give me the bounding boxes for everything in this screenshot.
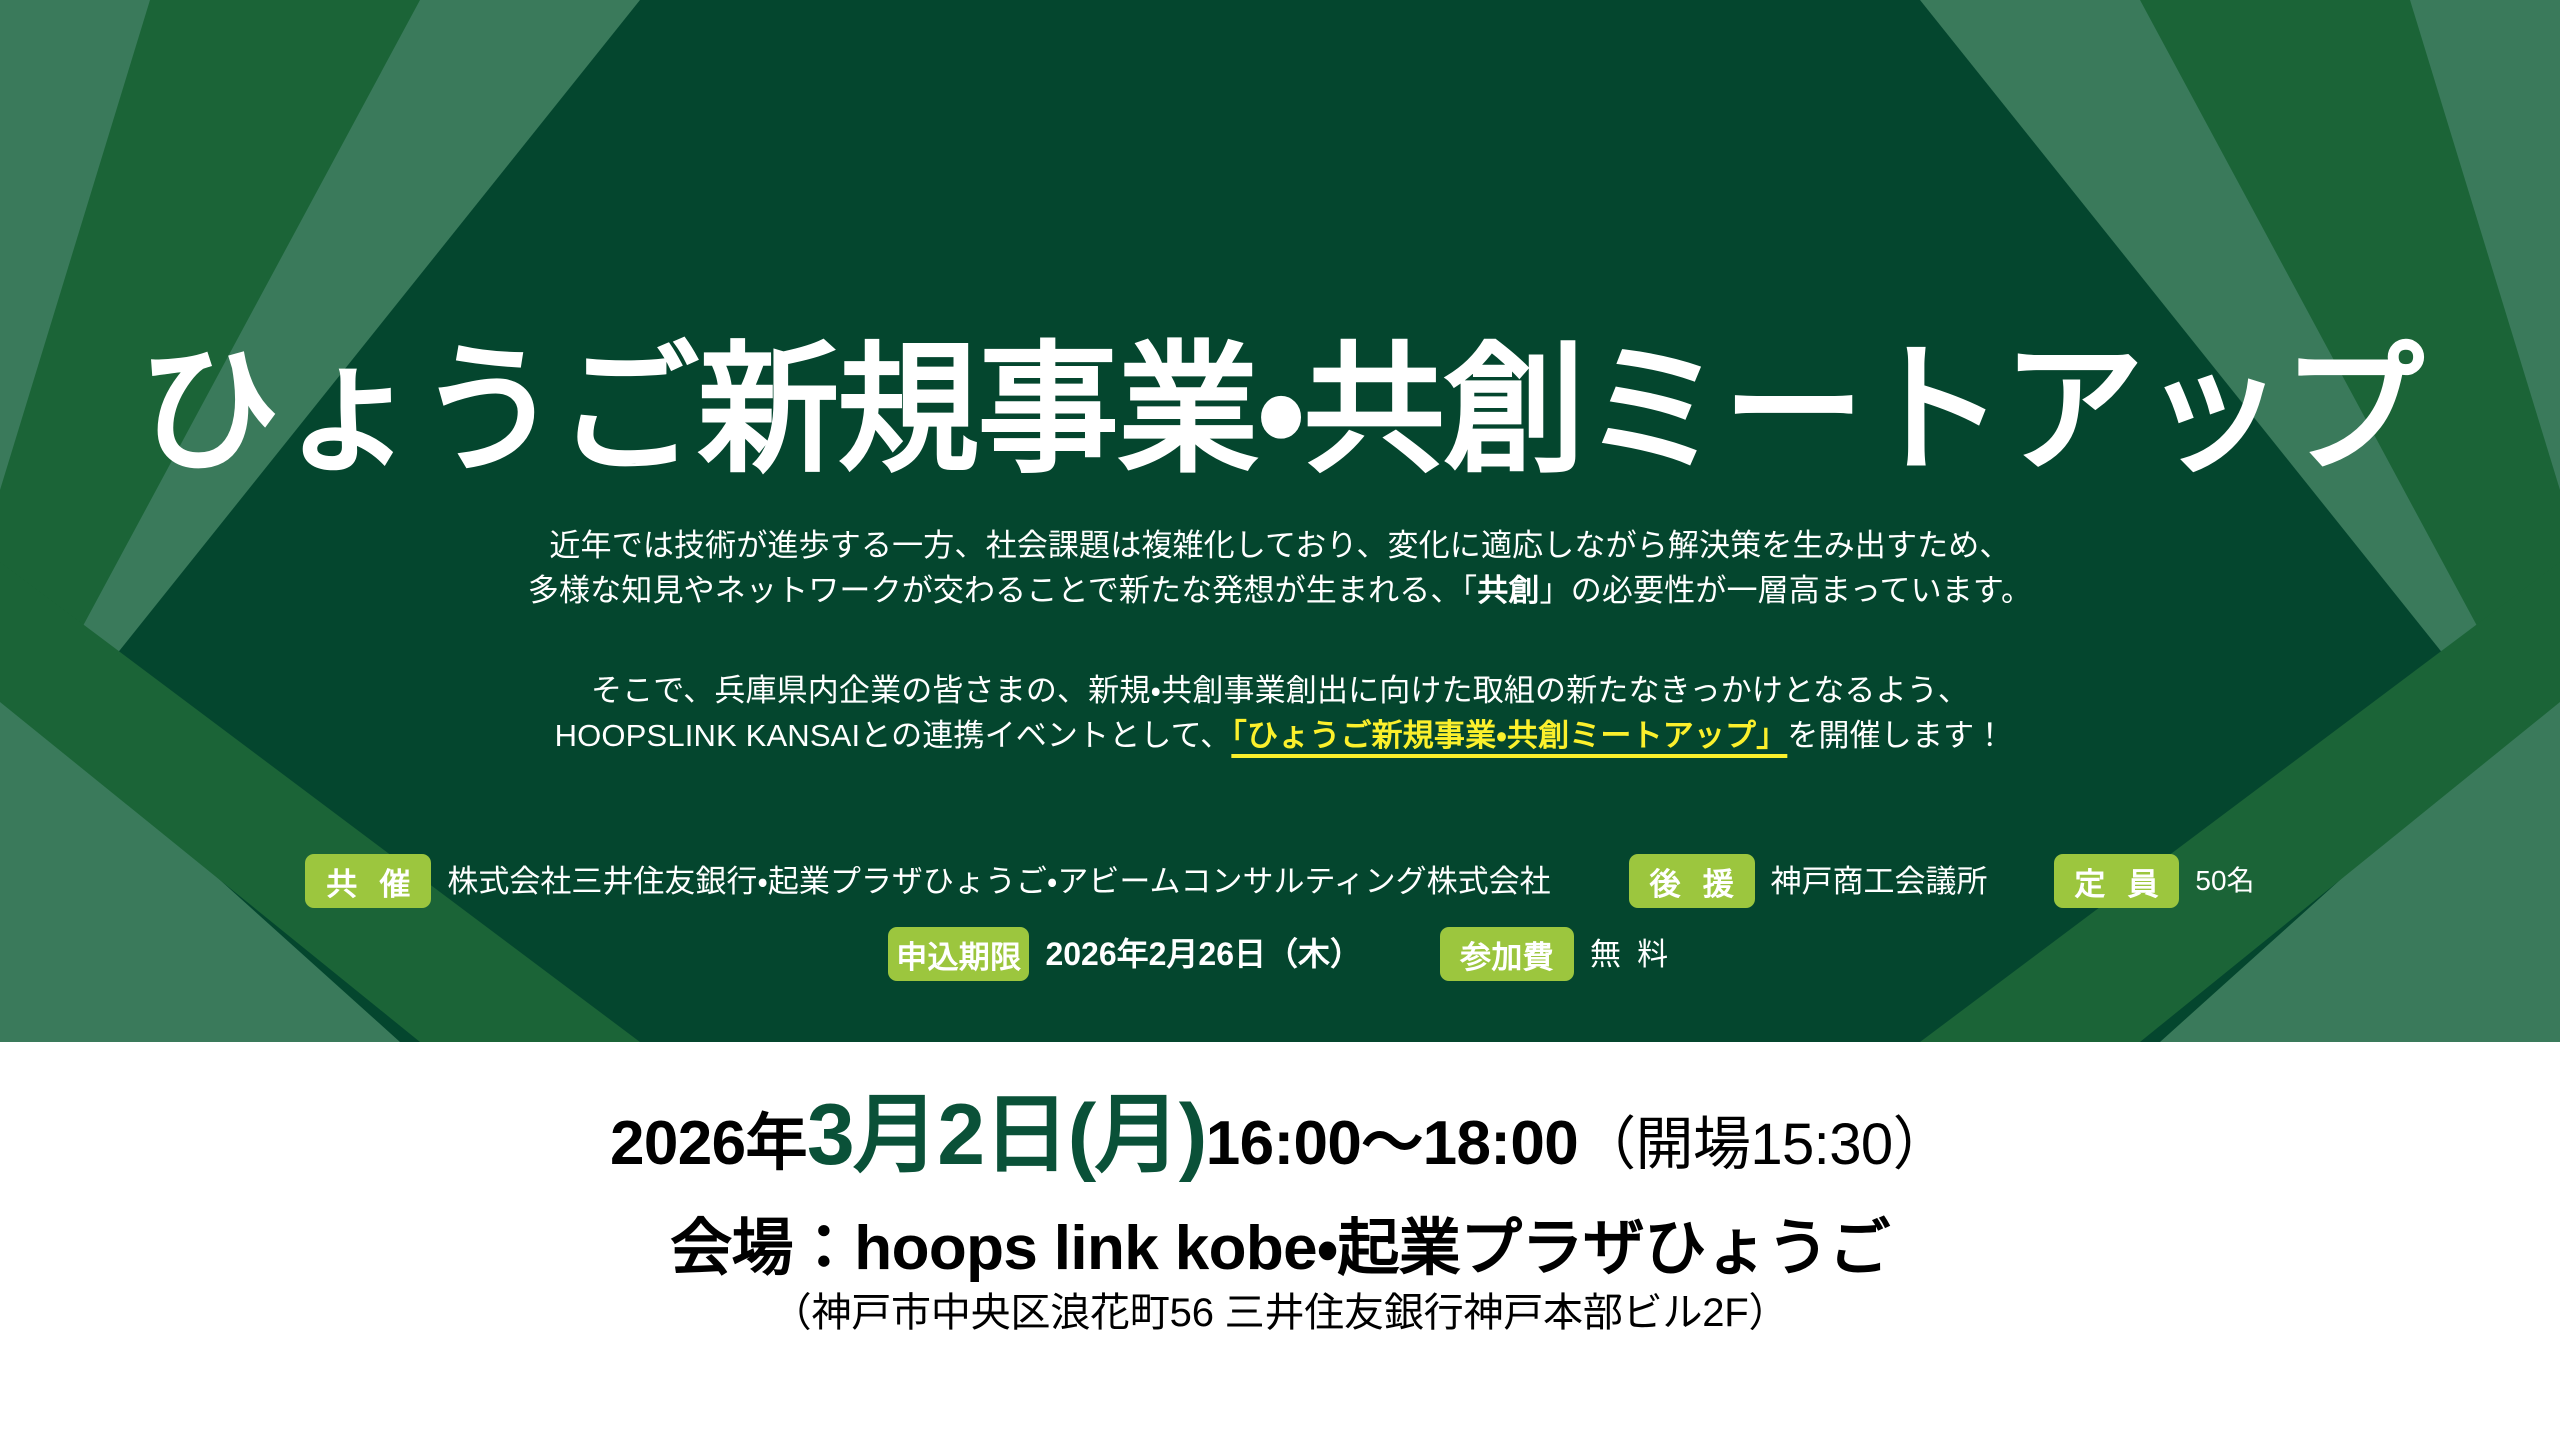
lead-paragraph-1: 近年では技術が進歩する一方、社会課題は複雑化しており、変化に適応しながら解決策を… (0, 524, 2560, 614)
badge-value-support: 神戸商工会議所 (1771, 866, 1988, 897)
lead-p2-line2-suffix: を開催します！ (1787, 718, 2005, 753)
badge-value-deadline: 2026年2月26日（木） (1045, 938, 1362, 970)
badge-value-cohost: 株式会社三井住友銀行・起業プラザひょうご・アビームコンサルティング株式会社 (447, 866, 1550, 897)
lead-p2-highlight: 「ひょうご新規事業・共創ミートアップ」 (1231, 718, 1787, 753)
badge-label-cohost: 共 催 (305, 854, 431, 908)
badge-row-secondary: 申込期限 2026年2月26日（木） 参加費 無 料 (0, 927, 2560, 981)
lead-description: 近年では技術が進歩する一方、社会課題は複雑化しており、変化に適応しながら解決策を… (0, 524, 2560, 759)
badge-value-capacity: 50名 (2195, 867, 2254, 895)
event-datetime: 2026年3月2日(月)16:00〜18:00（開場15:30） (0, 1092, 2560, 1178)
badge-row-primary: 共 催 株式会社三井住友銀行・起業プラザひょうご・アビームコンサルティング株式会… (0, 854, 2560, 908)
lead-paragraph-2: そこで、兵庫県内企業の皆さまの、新規・共創事業創出に向けた取組の新たなきっかけと… (0, 669, 2560, 759)
event-poster: ひょうご新規事業・共創ミートアップ 近年では技術が進歩する一方、社会課題は複雑化… (0, 0, 2560, 1440)
lead-p2-line1: そこで、兵庫県内企業の皆さまの、新規・共創事業創出に向けた取組の新たなきっかけと… (591, 673, 1969, 708)
badge-group-fee: 参加費 無 料 (1440, 927, 1672, 981)
event-venue-address: （神戸市中央区浪花町56 三井住友銀行神戸本部ビル2F） (0, 1291, 2560, 1335)
badge-group-cohost: 共 催 株式会社三井住友銀行・起業プラザひょうご・アビームコンサルティング株式会… (305, 854, 1550, 908)
badge-group-support: 後 援 神戸商工会議所 (1629, 854, 1988, 908)
hero-content: ひょうご新規事業・共創ミートアップ 近年では技術が進歩する一方、社会課題は複雑化… (0, 0, 2560, 1042)
badge-label-capacity: 定 員 (2054, 854, 2180, 908)
event-year: 2026年 (610, 1109, 807, 1178)
badge-label-support: 後 援 (1629, 854, 1755, 908)
event-time: 16:00〜18:00 (1206, 1109, 1578, 1178)
lead-p2-line2-prefix: HOOPSLINK KANSAIとの連携イベントとして、 (555, 718, 1232, 753)
event-doors-open: （開場15:30） (1578, 1112, 1950, 1177)
event-title: ひょうご新規事業・共創ミートアップ (0, 340, 2560, 482)
badge-group-capacity: 定 員 50名 (2054, 854, 2255, 908)
badge-group-deadline: 申込期限 2026年2月26日（木） (888, 927, 1362, 981)
event-date: 3月2日(月) (807, 1087, 1206, 1183)
hero-panel: ひょうご新規事業・共創ミートアップ 近年では技術が進歩する一方、社会課題は複雑化… (0, 0, 2560, 1042)
footer-panel: 2026年3月2日(月)16:00〜18:00（開場15:30） 会場：hoop… (0, 1042, 2560, 1440)
lead-p1-line2-prefix: 多様な知見やネットワークが交わることで新たな発想が生まれる、「 (528, 573, 1477, 608)
lead-p1-emphasis: 共創 (1477, 573, 1539, 608)
lead-p1-line1: 近年では技術が進歩する一方、社会課題は複雑化しており、変化に適応しながら解決策を… (549, 528, 2010, 563)
event-venue: 会場：hoops link kobe・起業プラザひょうご (0, 1216, 2560, 1281)
badge-value-fee: 無 料 (1590, 939, 1672, 970)
badge-label-deadline: 申込期限 (888, 927, 1029, 981)
lead-p1-line2-suffix: 」の必要性が一層高まっています。 (1540, 573, 2033, 608)
badge-section: 共 催 株式会社三井住友銀行・起業プラザひょうご・アビームコンサルティング株式会… (0, 854, 2560, 981)
badge-label-fee: 参加費 (1440, 927, 1574, 981)
